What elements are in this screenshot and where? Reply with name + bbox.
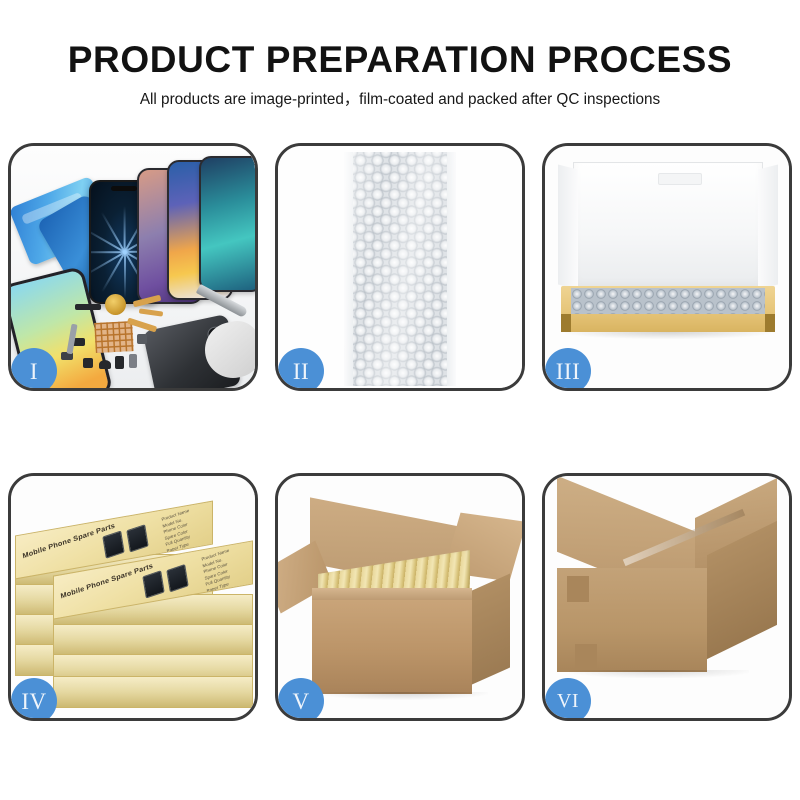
drop-shadow (318, 692, 488, 700)
phone-teal-gradient (199, 156, 255, 292)
lid-tab (658, 173, 702, 185)
step-badge-5: V (278, 678, 324, 721)
process-step-1: I (8, 143, 258, 391)
chip-part (129, 354, 137, 368)
bubble-wrap-sleeve (344, 152, 456, 386)
header: PRODUCT PREPARATION PROCESS All products… (0, 0, 800, 109)
page-title: PRODUCT PREPARATION PROCESS (0, 0, 800, 79)
process-step-3: III (542, 143, 792, 391)
bubble-wrapped-contents (571, 288, 765, 314)
process-step-4: Mobile Phone Spare Parts Product Name Mo… (8, 473, 258, 721)
carton-front-face (312, 600, 472, 694)
plastic-sheen (344, 152, 456, 386)
process-step-2: II (275, 143, 525, 391)
box-product-photo (166, 564, 188, 592)
chip-part (99, 360, 111, 369)
chip-part (83, 358, 93, 368)
tray-lip-left (561, 314, 571, 332)
component-board (94, 321, 134, 353)
box-lid-open (573, 162, 763, 292)
box-product-photo (102, 530, 124, 558)
carton-tab-upper (567, 576, 589, 602)
step-badge-4: IV (11, 678, 57, 721)
kraft-box-tray (561, 286, 775, 332)
chip-part (137, 334, 147, 344)
step-badge-1: I (11, 348, 57, 391)
box-spec-list: Product Name Model No. Phone Color Spare… (201, 548, 235, 595)
carton-tab-lower (575, 644, 597, 670)
step-badge-6: VI (545, 678, 591, 721)
product-preparation-infographic: PRODUCT PREPARATION PROCESS All products… (0, 0, 800, 800)
wireless-charging-coil (105, 294, 126, 315)
box-label-text: Mobile Phone Spare Parts (22, 521, 116, 561)
step-badge-3: III (545, 348, 591, 391)
drop-shadow (569, 670, 749, 678)
process-step-5: V (275, 473, 525, 721)
carton-side-face (472, 574, 510, 685)
box-spec-list: Product Name Model No. Phone Color Spare… (161, 508, 195, 555)
tray-lip-right (765, 314, 775, 332)
chip-part (115, 356, 124, 369)
box-stack: Mobile Phone Spare Parts Product Name Mo… (13, 498, 255, 708)
step-badge-2: II (278, 348, 324, 391)
box-product-photo (126, 524, 148, 552)
box-product-photo (142, 570, 164, 598)
drop-shadow (565, 332, 771, 339)
page-subtitle: All products are image-printed，film-coat… (0, 79, 800, 109)
chip-part (75, 304, 101, 310)
process-step-6: VI (542, 473, 792, 721)
process-step-grid: I II (8, 143, 792, 721)
